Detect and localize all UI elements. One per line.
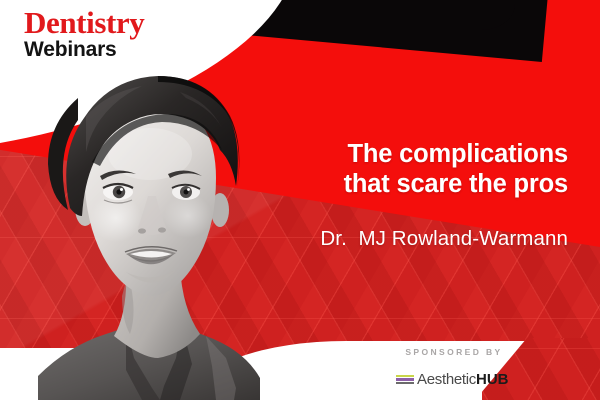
sponsor-name-light: Aesthetic [417,371,476,388]
title-line-1: The complications [238,140,568,170]
sponsor-bar-2 [396,378,414,380]
sponsor-bar-1 [396,375,414,377]
sponsor-bar-3 [396,382,414,384]
logo-word-webinars: Webinars [24,39,174,61]
webinar-title: The complications that scare the pros [238,140,568,200]
speaker-name: Dr. MJ Rowland-Warmann [208,227,568,251]
dentistry-webinars-logo: Dentistry Webinars [24,8,174,61]
sponsored-by-label: SPONSORED BY [398,347,510,357]
sponsor-name: AestheticHUB [417,371,509,388]
sponsor-logo-aesthetichub: AestheticHUB [396,371,509,388]
sponsor-bars-icon [396,375,414,385]
sponsor-name-bold: HUB [476,371,509,388]
webinar-promo-banner: Dentistry Webinars The complications tha… [0,0,600,400]
title-line-2: that scare the pros [238,170,568,200]
logo-word-dentistry: Dentistry [24,8,174,38]
